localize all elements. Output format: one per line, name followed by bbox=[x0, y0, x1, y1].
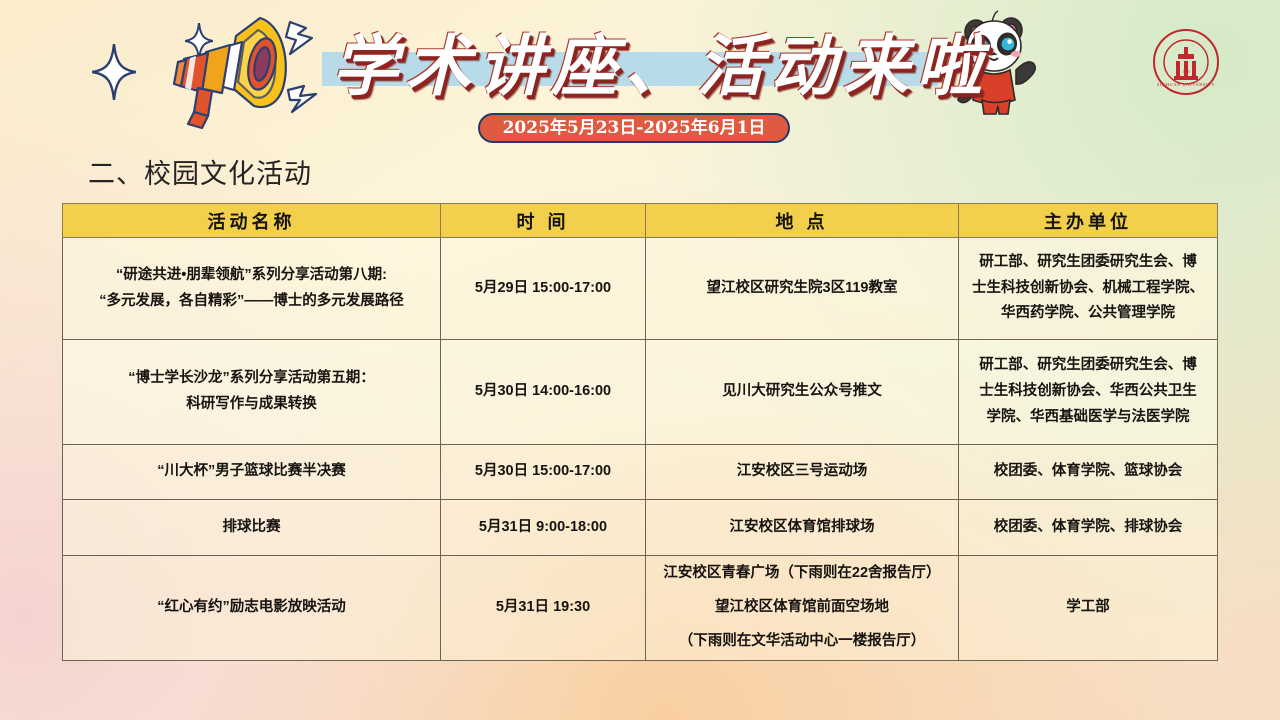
table-header-row: 活动名称 时 间 地 点 主办单位 bbox=[63, 204, 1218, 238]
cell-location: 见川大研究生公众号推文 bbox=[646, 340, 959, 445]
cell-time: 5月31日 9:00-18:00 bbox=[441, 500, 646, 556]
cell-organizer: 校团委、体育学院、排球协会 bbox=[959, 500, 1218, 556]
cell-location: 江安校区三号运动场 bbox=[646, 445, 959, 500]
section-heading: 二、校园文化活动 bbox=[88, 152, 312, 191]
header-banner: SICHUAN UNIVERSITY 1896 学术讲座、活动来啦 2025年5… bbox=[0, 0, 1280, 150]
cell-time: 5月30日 14:00-16:00 bbox=[441, 340, 646, 445]
cell-organizer: 研工部、研究生团委研究生会、博 士生科技创新协会、华西公共卫生 学院、华西基础医… bbox=[959, 340, 1218, 445]
column-header-organizer: 主办单位 bbox=[959, 204, 1218, 238]
column-header-activity-name: 活动名称 bbox=[63, 204, 441, 238]
table-row: “研途共进•朋辈领航”系列分享活动第八期: “多元发展，各自精彩”——博士的多元… bbox=[63, 238, 1218, 340]
svg-text:1896: 1896 bbox=[1182, 70, 1189, 74]
cell-activity-name: 排球比赛 bbox=[63, 500, 441, 556]
cell-location: 望江校区研究生院3区119教室 bbox=[646, 238, 959, 340]
date-range-badge: 2025年5月23日-2025年6月1日 bbox=[478, 113, 790, 143]
megaphone-icon bbox=[150, 12, 320, 132]
cell-activity-name: “红心有约”励志电影放映活动 bbox=[63, 556, 441, 661]
cell-activity-name: “川大杯”男子篮球比赛半决赛 bbox=[63, 445, 441, 500]
cell-time: 5月29日 15:00-17:00 bbox=[441, 238, 646, 340]
cell-organizer: 校团委、体育学院、篮球协会 bbox=[959, 445, 1218, 500]
cell-location: 江安校区青春广场（下雨则在22舍报告厅） 望江校区体育馆前面空场地 （下雨则在文… bbox=[646, 556, 959, 661]
cell-activity-name: “博士学长沙龙”系列分享活动第五期： 科研写作与成果转换 bbox=[63, 340, 441, 445]
column-header-time: 时 间 bbox=[441, 204, 646, 238]
slide-page: SICHUAN UNIVERSITY 1896 学术讲座、活动来啦 2025年5… bbox=[0, 0, 1280, 720]
sichuan-university-logo: SICHUAN UNIVERSITY 1896 bbox=[1152, 28, 1220, 96]
activity-schedule-table: 活动名称 时 间 地 点 主办单位 “研途共进•朋辈领航”系列分享活动第八期: … bbox=[62, 203, 1218, 661]
table-row: “博士学长沙龙”系列分享活动第五期： 科研写作与成果转换 5月30日 14:00… bbox=[63, 340, 1218, 445]
cell-organizer: 学工部 bbox=[959, 556, 1218, 661]
table-row: “川大杯”男子篮球比赛半决赛 5月30日 15:00-17:00 江安校区三号运… bbox=[63, 445, 1218, 500]
cell-organizer: 研工部、研究生团委研究生会、博 士生科技创新协会、机械工程学院、 华西药学院、公… bbox=[959, 238, 1218, 340]
column-header-location: 地 点 bbox=[646, 204, 959, 238]
cell-time: 5月30日 15:00-17:00 bbox=[441, 445, 646, 500]
table-row: “红心有约”励志电影放映活动 5月31日 19:30 江安校区青春广场（下雨则在… bbox=[63, 556, 1218, 661]
table-row: 排球比赛 5月31日 9:00-18:00 江安校区体育馆排球场 校团委、体育学… bbox=[63, 500, 1218, 556]
cell-activity-name: “研途共进•朋辈领航”系列分享活动第八期: “多元发展，各自精彩”——博士的多元… bbox=[63, 238, 441, 340]
svg-text:SICHUAN UNIVERSITY: SICHUAN UNIVERSITY bbox=[1157, 82, 1215, 87]
cell-location: 江安校区体育馆排球场 bbox=[646, 500, 959, 556]
cell-time: 5月31日 19:30 bbox=[441, 556, 646, 661]
page-title: 学术讲座、活动来啦 bbox=[332, 18, 932, 114]
sparkle-icon bbox=[92, 44, 136, 100]
